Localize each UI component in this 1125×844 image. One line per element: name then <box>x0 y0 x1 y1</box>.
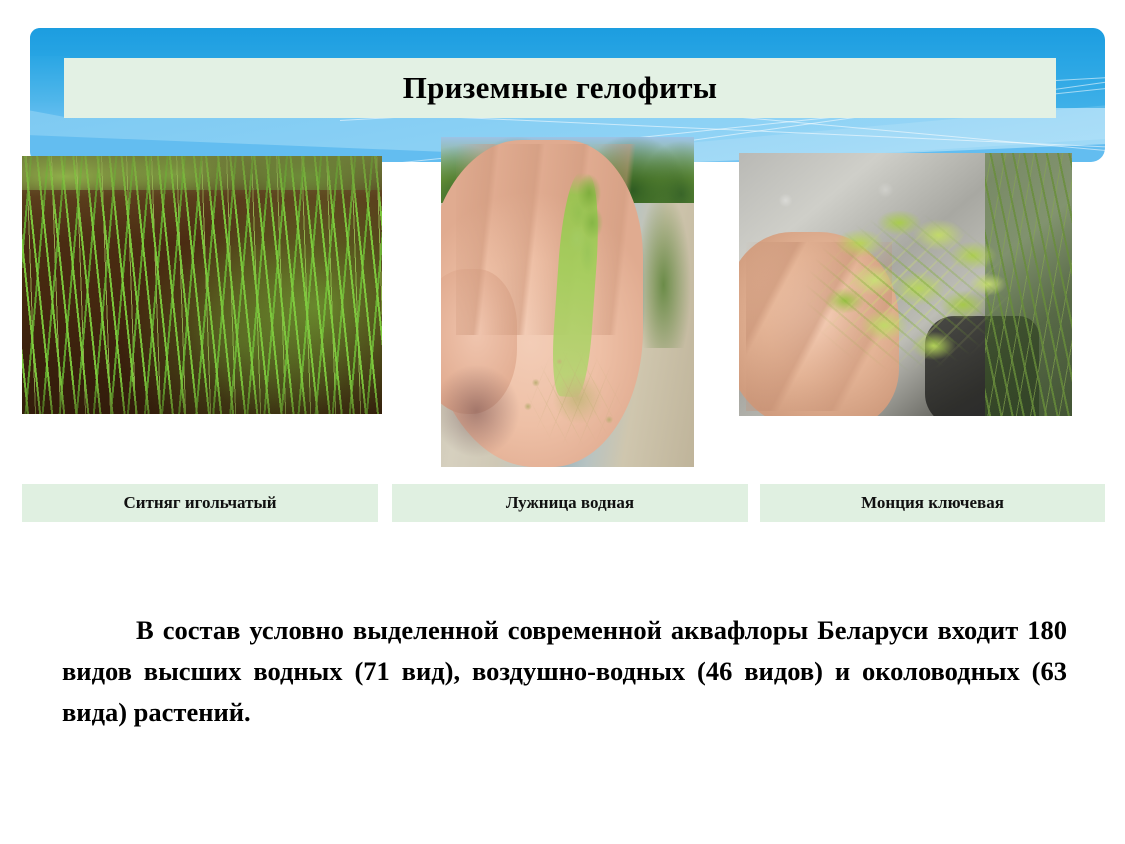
caption-label-sitnyag: Ситняг игольчатый <box>123 493 276 513</box>
figure-image-luzhnitsa <box>441 137 694 467</box>
figure-caption-bar-2: Лужница водная <box>392 484 748 522</box>
plant-roots <box>507 322 639 454</box>
body-paragraph: В состав условно выделенной современной … <box>62 610 1067 733</box>
montia-leaf-texture <box>786 190 1032 395</box>
dense-stand-highlight <box>22 156 382 414</box>
title-box: Приземные гелофиты <box>64 58 1056 118</box>
caption-label-luzhnitsa: Лужница водная <box>506 493 634 513</box>
figure-caption-bar-3: Монция ключевая <box>760 484 1105 522</box>
caption-label-montsiya: Монция ключевая <box>861 493 1004 513</box>
slide-title: Приземные гелофиты <box>403 70 718 106</box>
plant-leaves <box>542 170 618 335</box>
figure-image-montsiya <box>739 153 1072 416</box>
figure-image-sitnyag <box>22 156 382 414</box>
figure-caption-bar-1: Ситняг игольчатый <box>22 484 378 522</box>
